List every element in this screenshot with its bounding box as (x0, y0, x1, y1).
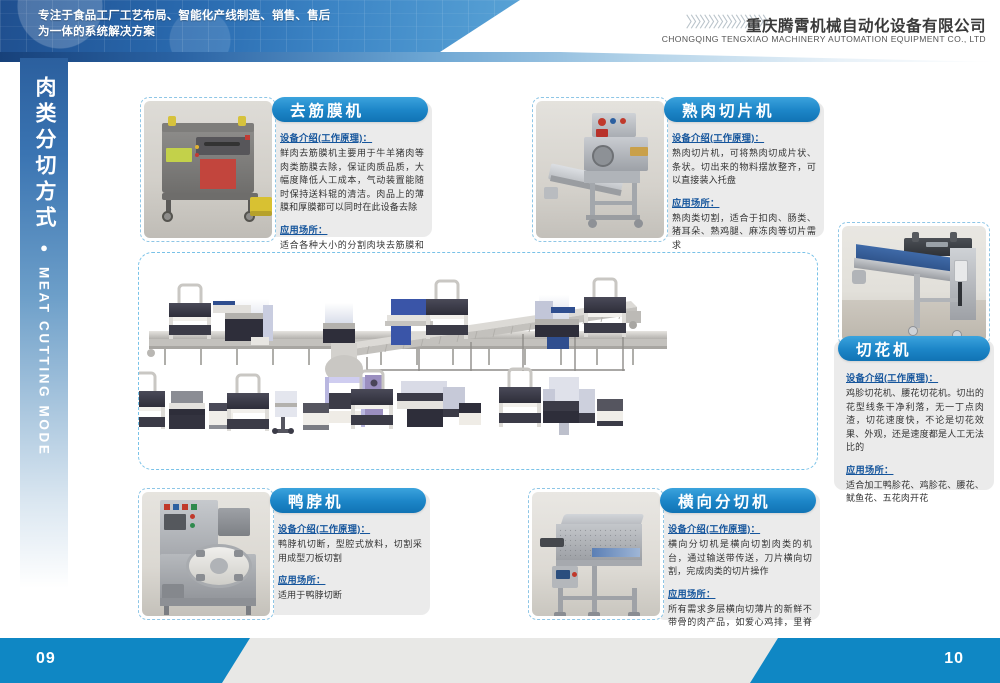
footer-white-gap (0, 629, 1000, 638)
card-title-bar: 横向分切机 (660, 488, 816, 513)
company-name-en: CHONGQING TENGXIAO MACHINERY AUTOMATION … (662, 34, 986, 44)
card-text: 设备介绍(工作原理)： 鸡胗切花机、腰花切花机。切出的花型线条干净利落，无一丁点… (846, 370, 984, 513)
intro-text: 横向分切机是横向切割肉类的机台，通过输送带传送，刀片横向切割，完成肉类的切片操作 (668, 538, 812, 579)
trolley (139, 373, 165, 429)
usage-label: 应用场所： (846, 462, 984, 476)
trolley (584, 279, 626, 337)
card-title: 鸭脖机 (288, 490, 344, 512)
catalog-page: 专注于食品工厂工艺布局、智能化产线制造、销售、售后 为一体的系统解决方案 〉〉〉… (0, 0, 1000, 683)
sidebar-bullet-icon: ● (37, 240, 52, 261)
card-title: 熟肉切片机 (682, 99, 775, 121)
company-name-cn: 重庆腾霄机械自动化设备有限公司 (746, 14, 986, 36)
production-line-diagram (138, 252, 818, 470)
machine-photo-membrane-remover (144, 101, 272, 238)
trolley (499, 369, 541, 427)
card-cooked-meat-slicer: 熟肉切片机 设备介绍(工作原理)： 熟肉切片机，可将熟肉切成片状、条状。切出来的… (532, 97, 824, 242)
bin-2 (303, 403, 329, 430)
machine-h (543, 377, 595, 435)
intro-label: 设备介绍(工作原理)： (668, 521, 812, 535)
usage-label: 应用场所： (278, 572, 422, 586)
page-number-left: 09 (36, 650, 56, 668)
machine-photo-cooked-meat-slicer (536, 101, 664, 238)
production-line-svg (139, 253, 817, 469)
sidebar-title: 肉类分切方式 ● MEAT CUTTING MODE (20, 58, 68, 588)
machine-b (323, 303, 355, 343)
card-photo-frame (528, 488, 664, 620)
usage-text: 适用于鸭脖切断 (278, 589, 422, 603)
card-text: 设备介绍(工作原理)： 熟肉切片机，可将熟肉切成片状、条状。切出来的物料摆放整齐… (672, 130, 816, 259)
card-title: 切花机 (856, 338, 912, 360)
machine-photo-transverse-cutter (532, 492, 660, 616)
page-header: 专注于食品工厂工艺布局、智能化产线制造、销售、售后 为一体的系统解决方案 〉〉〉… (0, 0, 1000, 68)
trolley (426, 281, 468, 339)
sidebar-title-cn: 肉类分切方式 (29, 76, 59, 232)
card-text: 设备介绍(工作原理)： 鸭脖机切断，型腔式放料，切割采用成型刀板切割 应用场所：… (278, 521, 422, 610)
card-title-bar: 切花机 (838, 336, 990, 361)
card-duck-neck-machine: 鸭脖机 设备介绍(工作原理)： 鸭脖机切断，型腔式放料，切割采用成型刀板切割 应… (138, 488, 430, 620)
card-photo-frame (140, 97, 276, 242)
trolley (227, 375, 269, 431)
intro-label: 设备介绍(工作原理)： (280, 130, 424, 144)
card-photo-frame (532, 97, 668, 242)
page-footer: 09 10 (0, 638, 1000, 683)
header-slogan: 专注于食品工厂工艺布局、智能化产线制造、销售、售后 为一体的系统解决方案 (38, 8, 458, 40)
card-title-bar: 熟肉切片机 (664, 97, 820, 122)
card-deboning-membrane-remover: 去筋膜机 设备介绍(工作原理)： 鲜肉去筋膜机主要用于牛羊猪肉等肉类筋膜去除，保… (140, 97, 432, 242)
intro-text: 鸡胗切花机、腰花切花机。切出的花型线条干净利落，无一丁点肉渣，切花速度快，不论是… (846, 387, 984, 455)
bin-3 (597, 399, 623, 426)
intro-label: 设备介绍(工作原理)： (846, 370, 984, 384)
card-title: 去筋膜机 (290, 99, 364, 121)
header-gradient-bar (0, 52, 1000, 62)
machine-e (169, 391, 205, 429)
machine-group-top (169, 279, 626, 349)
card-flower-cutting-machine: 切花机 设备介绍(工作原理)： 鸡胗切花机、腰花切花机。切出的花型线条干净利落，… (834, 222, 994, 490)
slogan-line-1: 专注于食品工厂工艺布局、智能化产线制造、销售、售后 (38, 8, 458, 24)
usage-text: 适合加工鸭胗花、鸡胗花、腰花、鱿鱼花、五花肉开花 (846, 479, 984, 506)
card-title: 横向分切机 (678, 490, 771, 512)
card-title-bar: 去筋膜机 (272, 97, 428, 122)
usage-label: 应用场所： (668, 586, 812, 600)
trolley (169, 285, 211, 339)
machine-photo-duck-neck (142, 492, 270, 616)
usage-text: 熟肉类切割，适合于扣肉、肠类、猪耳朵、熟鸡腿、麻冻肉等切片需求 (672, 212, 816, 253)
machine-g (397, 381, 481, 427)
page-number-right: 10 (944, 650, 964, 668)
intro-text: 熟肉切片机，可将熟肉切成片状、条状。切出来的物料摆放整齐，可以直接装入托盘 (672, 147, 816, 188)
card-photo-frame (138, 488, 274, 620)
intro-text: 鸭脖机切断，型腔式放料，切割采用成型刀板切割 (278, 538, 422, 565)
usage-label: 应用场所： (280, 222, 424, 236)
intro-label: 设备介绍(工作原理)： (278, 521, 422, 535)
machine-photo-flower-cutter (842, 226, 986, 342)
slogan-line-2: 为一体的系统解决方案 (38, 24, 458, 40)
card-title-bar: 鸭脖机 (270, 488, 426, 513)
sidebar-title-en: MEAT CUTTING MODE (37, 267, 52, 456)
card-photo-frame (838, 222, 990, 346)
intro-label: 设备介绍(工作原理)： (672, 130, 816, 144)
intro-text: 鲜肉去筋膜机主要用于牛羊猪肉等肉类筋膜去除，保证肉质品质，大幅度降低人工成本，气… (280, 147, 424, 215)
usage-label: 应用场所： (672, 195, 816, 209)
machine-f (272, 391, 297, 434)
card-transverse-cutting-machine: 横向分切机 设备介绍(工作原理)： 横向分切机是横向切割肉类的机台，通过输送带传… (528, 488, 820, 620)
